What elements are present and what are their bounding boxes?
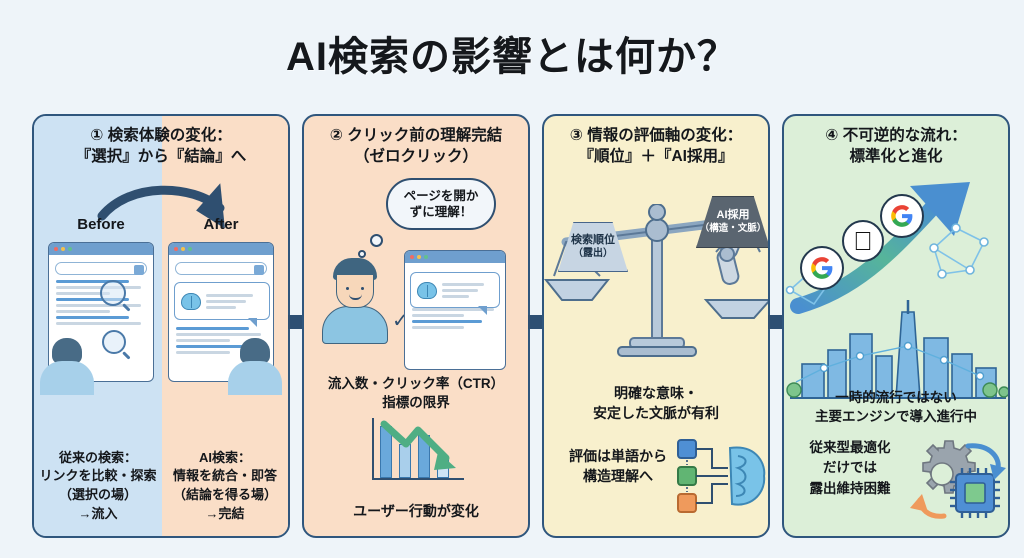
footer-left-line3: （選択の場） (36, 486, 160, 505)
balance-scale: 検索順位 （露出） AI採用 （構造・文脈） (544, 204, 768, 374)
user-avatar-face (320, 258, 390, 344)
bubble-line2: ずに理解！ (404, 204, 479, 220)
result-title-line (176, 327, 249, 330)
window-maximize-dot-icon (424, 255, 428, 259)
ai-answer-line (442, 283, 484, 286)
bubble-line1: ページを開か (404, 188, 479, 204)
google-logo-badge-right (880, 194, 924, 238)
panel-4-foot-line1: 従来型最適化 (792, 438, 908, 458)
panel-2-footer-text: ユーザー行動が変化 (304, 502, 528, 522)
user-avatar-after (228, 338, 282, 395)
window-close-dot-icon (174, 247, 178, 251)
panel-2-mid-text: 流入数・クリック率（CTR） 指標の限界 (304, 374, 528, 412)
google-logo-badge-left (800, 246, 844, 290)
panel-3-heading-line2: 『順位』＋『AI採用』 (550, 147, 762, 168)
footer-right-line3: （結論を得る場） (164, 486, 286, 505)
avatar-eye-right (361, 287, 364, 290)
weight-right-line2: （構造・文脈） (700, 223, 767, 235)
window-minimize-dot-icon (61, 247, 65, 251)
footer-left-line1: 従来の検索： (36, 449, 160, 468)
google-g-icon (889, 203, 915, 229)
page-title: AI検索の影響とは何か？ (0, 24, 1024, 82)
panel-2-zero-click[interactable]: ② クリック前の理解完結 （ゼロクリック） ページを開か ずに理解！ (302, 114, 530, 538)
result-text-line (412, 314, 464, 317)
after-browser-titlebar (169, 243, 273, 255)
result-text-line (176, 351, 230, 354)
ctr-decline-chart (372, 418, 464, 480)
avatar-torso (322, 306, 388, 344)
footer-right-line2: 情報を統合・即答 (164, 467, 286, 486)
panel-4-mid-line2: 主要エンジンで導入進行中 (784, 407, 1008, 426)
panel-3-heading: ③ 情報の評価軸の変化： 『順位』＋『AI採用』 (544, 126, 768, 168)
before-label: Before (46, 216, 156, 233)
panel-1-footer: 従来の検索： リンクを比較・探索 （選択の場） →流入 AI検索： 情報を統合・… (34, 449, 288, 524)
panel-4-heading: ④ 不可逆的な流れ： 標準化と進化 (784, 126, 1008, 168)
footer-right-line1: AI検索： (164, 449, 286, 468)
downward-trend-arrow-icon (372, 418, 464, 480)
ai-answer-line (442, 295, 469, 298)
panel-1-heading: ① 検索体験の変化： 『選択』から『結論』へ (34, 126, 288, 168)
panel-4-foot-line2: だけでは (792, 458, 908, 478)
thought-bubble: ページを開か ずに理解！ (386, 178, 496, 230)
weight-left-line2: （露出） (573, 248, 613, 261)
panel-4-foot-line3: 露出維持困難 (792, 479, 908, 499)
user-avatar-before (40, 338, 94, 395)
window-minimize-dot-icon (181, 247, 185, 251)
panel-1-heading-line1: ① 検索体験の変化： (90, 127, 231, 144)
panel-2-mid-line1: 流入数・クリック率（CTR） (304, 374, 528, 393)
panel-2-mid-line2: 指標の限界 (304, 393, 528, 412)
ai-answer-card (410, 272, 500, 308)
panel-3-foot-text: 評価は単語から 構造理解へ (556, 446, 680, 487)
bubble-tail-dot-large (370, 234, 383, 247)
panel-2-footer: ユーザー行動が変化 (304, 502, 528, 522)
panel-1-footer-left: 従来の検索： リンクを比較・探索 （選択の場） →流入 (34, 449, 162, 524)
before-search-input[interactable] (55, 262, 147, 275)
panel-4-mid-line1: 一時的流行ではない (784, 388, 1008, 407)
panel-3-evaluation-axis[interactable]: ③ 情報の評価軸の変化： 『順位』＋『AI採用』 (542, 114, 770, 538)
avatar-smile (349, 294, 362, 300)
search-icon (254, 265, 264, 275)
after-label: After (166, 216, 276, 233)
window-maximize-dot-icon (188, 247, 192, 251)
result-text-line (56, 322, 141, 325)
brain-icon (181, 293, 201, 310)
result-text-line (56, 286, 141, 289)
panel-4-irreversible-trend[interactable]: ④ 不可逆的な流れ： 標準化と進化 (782, 114, 1010, 538)
panel-3-foot-line2: 構造理解へ (556, 466, 680, 486)
panel-1-search-experience[interactable]: ① 検索体験の変化： 『選択』から『結論』へ Before After (32, 114, 290, 538)
result-title-line (412, 320, 482, 323)
panel-2-heading-line1: ② クリック前の理解完結 (330, 127, 502, 144)
panel-3-heading-line1: ③ 情報の評価軸の変化： (570, 127, 742, 144)
panel-4-heading-line2: 標準化と進化 (790, 147, 1002, 168)
panel-3-mid-line1: 明確な意味・ (544, 384, 768, 404)
ai-answer-line (206, 300, 246, 303)
ai-answer-line (206, 294, 253, 297)
apple-logo-badge:  (842, 220, 884, 262)
result-title-line (56, 316, 129, 319)
avatar-eye-left (346, 287, 349, 290)
window-minimize-dot-icon (417, 255, 421, 259)
panel-4-foot-text: 従来型最適化 だけでは 露出維持困難 (792, 438, 908, 499)
panel-2-heading: ② クリック前の理解完結 （ゼロクリック） (304, 126, 528, 168)
weight-right-line1: AI採用 (717, 209, 750, 223)
footer-left-line2: リンクを比較・探索 (36, 467, 160, 486)
gear-and-chip-icon (906, 438, 1006, 524)
panel-1-heading-line2: 『選択』から『結論』へ (40, 147, 282, 168)
weight-left-line1: 検索順位 (571, 234, 615, 248)
footer-right-line4: →完結 (164, 505, 286, 524)
footer-left-line4: →流入 (36, 505, 160, 524)
panel-2-heading-line2: （ゼロクリック） (310, 147, 522, 168)
panel-3-foot-line1: 評価は単語から (556, 446, 680, 466)
brain-icon (417, 282, 437, 299)
ai-answer-line (206, 306, 236, 309)
bubble-tail-dot-small (358, 250, 366, 258)
ai-answer-line (442, 289, 478, 292)
panel-3-mid-text: 明確な意味・ 安定した文脈が有利 (544, 384, 768, 424)
after-search-input[interactable] (175, 262, 267, 275)
semantic-graph-brain-icon (676, 438, 766, 514)
result-text-line (176, 333, 261, 336)
google-g-icon (809, 255, 835, 281)
before-browser-titlebar (49, 243, 153, 255)
window-close-dot-icon (54, 247, 58, 251)
window-maximize-dot-icon (68, 247, 72, 251)
magnifier-icon (100, 280, 126, 306)
avatar-body (228, 361, 282, 395)
apple-icon:  (853, 228, 873, 254)
magnifier-icon (102, 330, 126, 354)
result-text-line (412, 326, 464, 329)
avatar-face-skin (336, 274, 374, 308)
panel-2-browser-window[interactable] (404, 250, 506, 370)
browser-titlebar (405, 251, 505, 263)
result-text-line (176, 339, 230, 342)
result-text-line (56, 310, 110, 313)
ai-answer-card (174, 282, 270, 320)
panel-3-mid-line2: 安定した文脈が有利 (544, 404, 768, 424)
infographic-canvas: AI検索の影響とは何か？ ① 検索体験の変化： 『選択』から『結論』へ Befo… (0, 0, 1024, 558)
search-icon (134, 265, 144, 275)
avatar-body (40, 361, 94, 395)
panel-1-footer-right: AI検索： 情報を統合・即答 （結論を得る場） →完結 (162, 449, 288, 524)
window-close-dot-icon (410, 255, 414, 259)
panel-4-mid-text: 一時的流行ではない 主要エンジンで導入進行中 (784, 388, 1008, 426)
panel-4-heading-line1: ④ 不可逆的な流れ： (825, 127, 966, 144)
